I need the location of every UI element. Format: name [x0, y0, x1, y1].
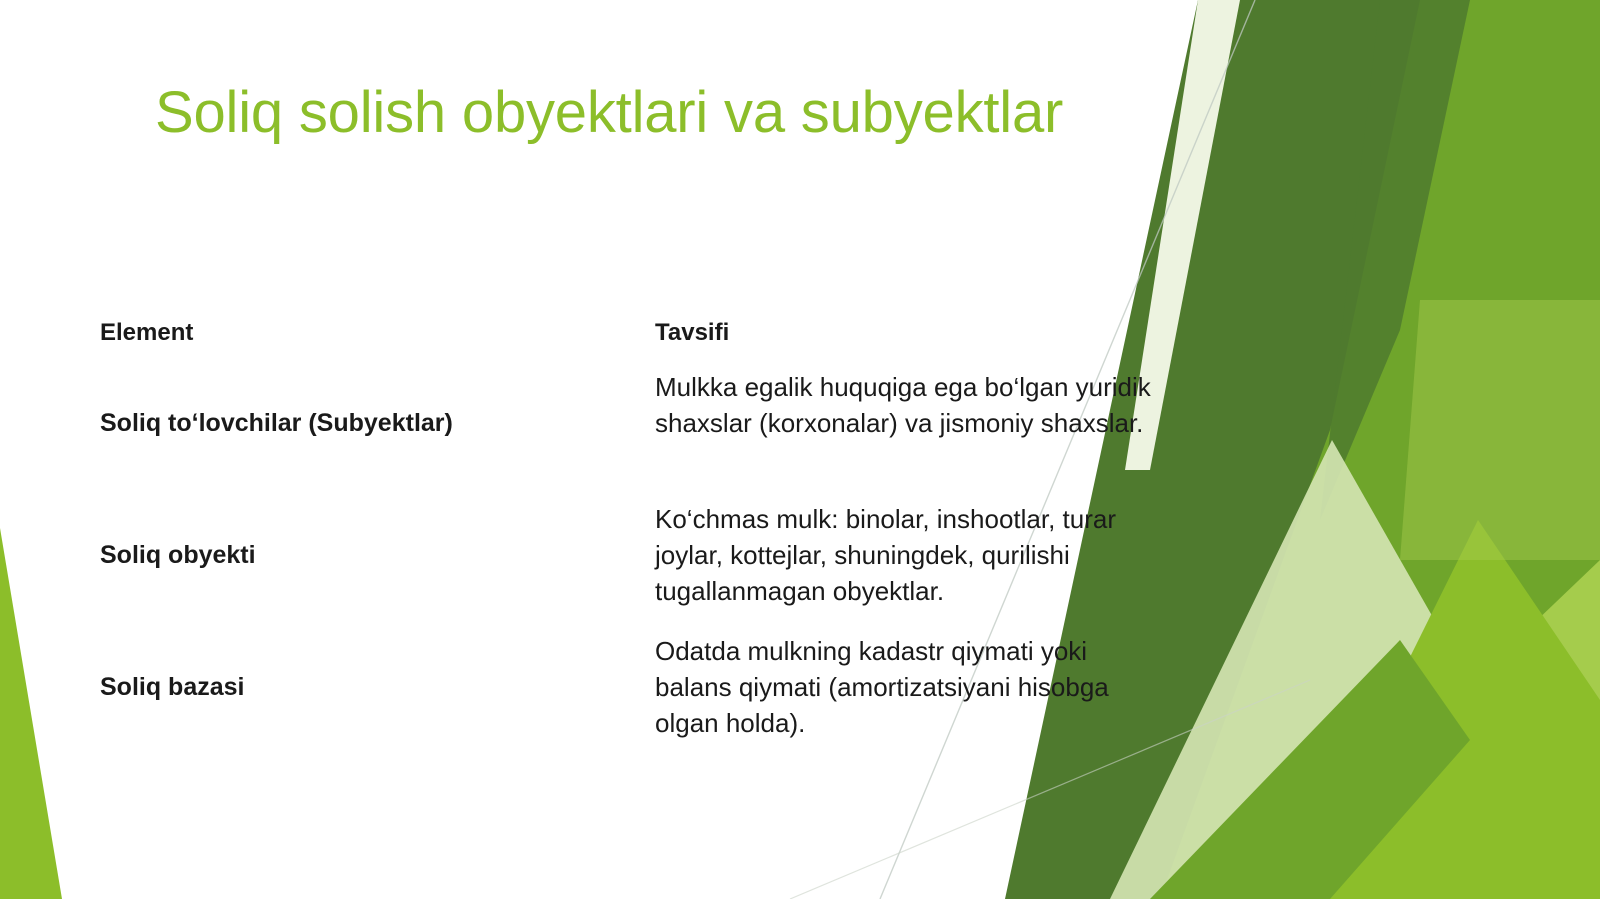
mid-green-facet	[1150, 0, 1600, 899]
table-cell-element: Soliq to‘lovchilar (Subyektlar)	[100, 370, 655, 478]
dark-green-facet-secondary	[1320, 0, 1470, 520]
presentation-slide: Soliq solish obyektlari va subyektlar El…	[0, 0, 1600, 899]
table-header-cell-description: Tavsifi	[655, 318, 1170, 348]
table-cell-description: Mulkka egalik huquqiga ega bo‘lgan yurid…	[655, 370, 1170, 442]
mid-green-bottom-facet	[1150, 640, 1470, 899]
header-label-description: Tavsifi	[655, 318, 1170, 348]
row-element-label: Soliq obyekti	[100, 540, 256, 571]
table-row: Soliq obyekti Ko‘chmas mulk: binolar, in…	[100, 502, 1170, 610]
table-header-row: Element Tavsifi	[100, 318, 1170, 348]
table-cell-description: Odatda mulkning kadastr qiymati yoki bal…	[655, 634, 1170, 742]
table-row: Soliq to‘lovchilar (Subyektlar) Mulkka e…	[100, 370, 1170, 478]
bright-green-lower-facet	[1290, 520, 1600, 899]
row-description-text: Ko‘chmas mulk: binolar, inshootlar, tura…	[655, 502, 1170, 610]
table-row: Soliq bazasi Odatda mulkning kadastr qiy…	[100, 634, 1170, 742]
table-cell-description: Ko‘chmas mulk: binolar, inshootlar, tura…	[655, 502, 1170, 610]
table-cell-element: Soliq bazasi	[100, 634, 655, 742]
right-bright-column	[1205, 0, 1600, 899]
light-green-overlay-facet	[1400, 300, 1600, 560]
row-description-text: Odatda mulkning kadastr qiymati yoki bal…	[655, 634, 1170, 742]
table-cell-element: Soliq obyekti	[100, 502, 655, 610]
row-element-label: Soliq to‘lovchilar (Subyektlar)	[100, 408, 453, 439]
table-header-cell-element: Element	[100, 318, 655, 348]
content-table: Element Tavsifi Soliq to‘lovchilar (Suby…	[100, 318, 1170, 766]
left-green-wedge	[0, 528, 62, 899]
slide-title: Soliq solish obyektlari va subyektlar	[155, 82, 1165, 145]
right-light-band	[1330, 0, 1600, 899]
header-label-element: Element	[100, 318, 639, 348]
row-element-label: Soliq bazasi	[100, 672, 244, 703]
row-description-text: Mulkka egalik huquqiga ega bo‘lgan yurid…	[655, 370, 1170, 442]
